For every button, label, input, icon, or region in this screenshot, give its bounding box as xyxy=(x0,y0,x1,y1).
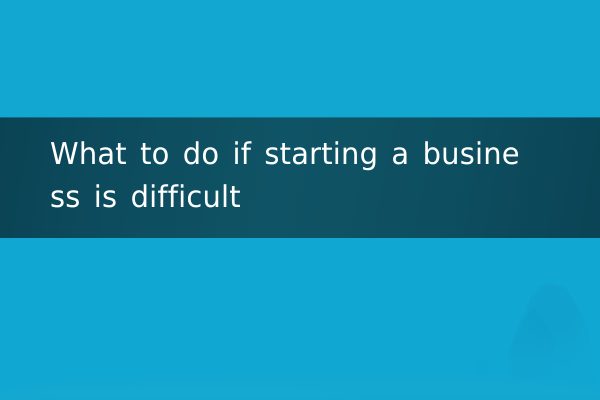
title-card: What to do if starting a busine ss is di… xyxy=(0,0,600,400)
page-title: What to do if starting a busine ss is di… xyxy=(50,133,548,219)
title-banner-band: What to do if starting a busine ss is di… xyxy=(0,117,600,238)
cyan-solid-top-area xyxy=(0,0,600,118)
